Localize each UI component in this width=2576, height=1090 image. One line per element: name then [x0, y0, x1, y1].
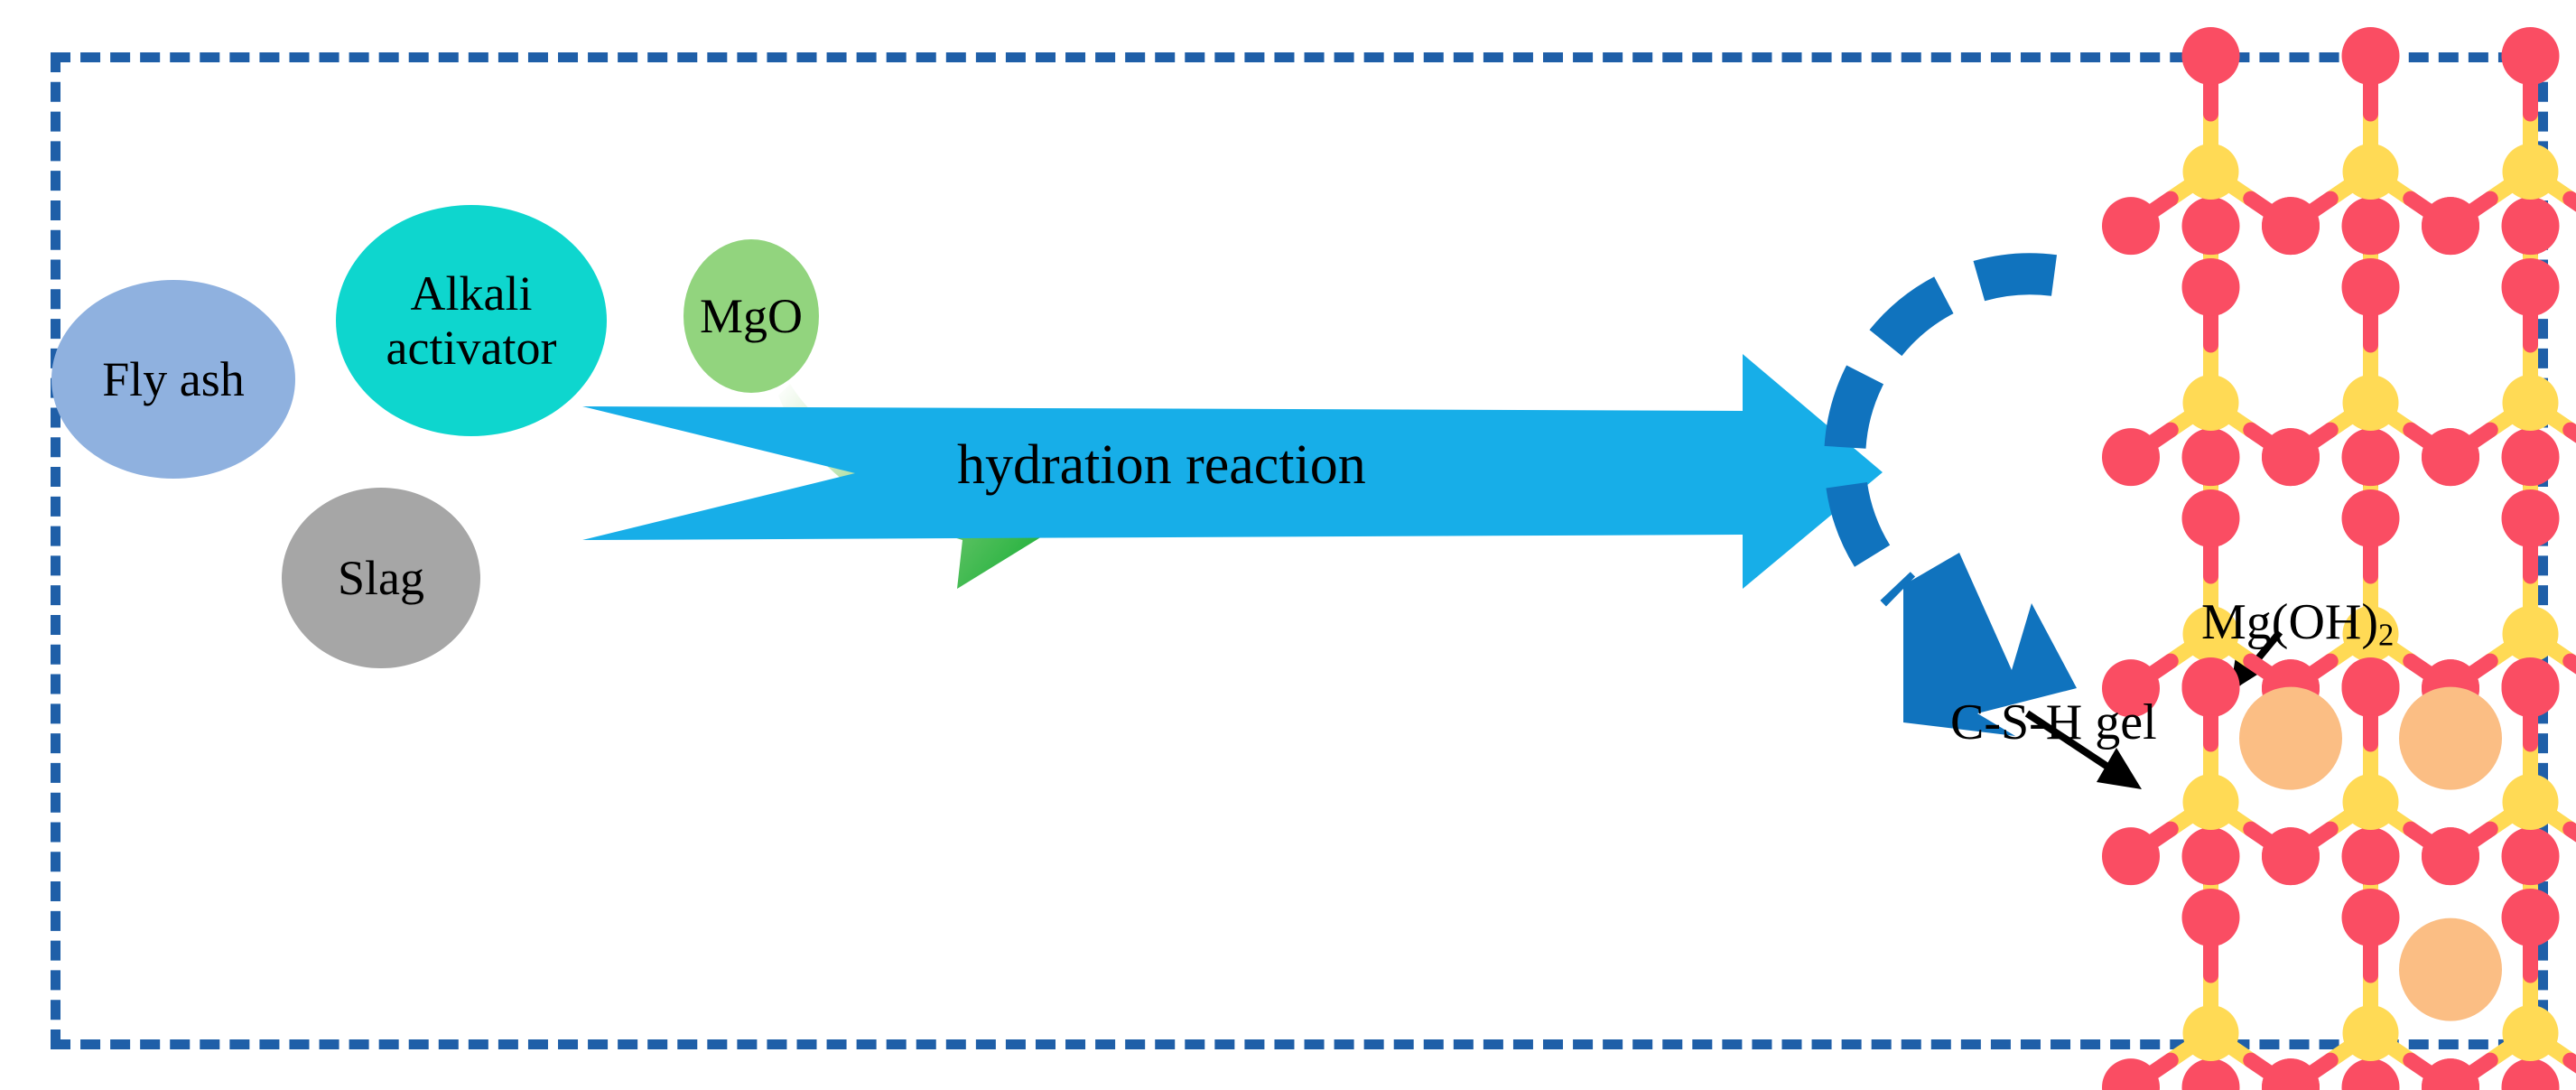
bond-si-o-right [2251, 1060, 2291, 1087]
reactant-alkali-activator-label: Alkali activator [336, 266, 607, 376]
reactant-mgo[interactable]: MgO [684, 239, 819, 393]
bond-si-o-right [2571, 829, 2576, 856]
oxygen-atom [2262, 1058, 2320, 1090]
oxygen-atom [2262, 1058, 2320, 1090]
mgoh2-formula-main: Mg(OH) [2201, 594, 2378, 650]
bond-si-o-left [2131, 1060, 2171, 1087]
hydration-reaction-label: hydration reaction [957, 433, 1366, 498]
alkali-line-2: activator [386, 321, 557, 375]
mgoh2-label: Mg(OH)2 [2201, 593, 2394, 654]
mgoh2-formula-subscript: 2 [2378, 618, 2394, 653]
reactant-slag[interactable]: Slag [282, 488, 480, 668]
oxygen-atom [2422, 1058, 2479, 1090]
bond-si-o-right [2571, 430, 2576, 457]
oxygen-atom [2182, 1058, 2240, 1090]
bond-si-o-right [2571, 661, 2576, 688]
bond-si-o-right [2571, 199, 2576, 226]
oxygen-atom [2422, 1058, 2479, 1090]
bond-si-o-right [2571, 1060, 2576, 1087]
reactant-fly-ash[interactable]: Fly ash [51, 280, 295, 479]
bond-si-o-left [2450, 1060, 2490, 1087]
alkali-line-1: Alkali [411, 266, 533, 321]
figure-canvas: Fly ash Alkali activator Slag MgO hydrat… [0, 0, 2576, 1090]
oxygen-atom [2102, 1058, 2160, 1090]
reactant-slag-label: Slag [282, 551, 480, 605]
oxygen-atom [2502, 1058, 2560, 1090]
csh-gel-label: C-S-H gel [1950, 694, 2157, 751]
reactant-mgo-label: MgO [684, 289, 819, 343]
reactant-alkali-activator[interactable]: Alkali activator [336, 205, 607, 436]
bond-si-o-right [2411, 1060, 2450, 1087]
oxygen-atom [2342, 1058, 2400, 1090]
reactant-fly-ash-label: Fly ash [51, 352, 295, 406]
bond-si-o-left [2291, 1060, 2330, 1087]
